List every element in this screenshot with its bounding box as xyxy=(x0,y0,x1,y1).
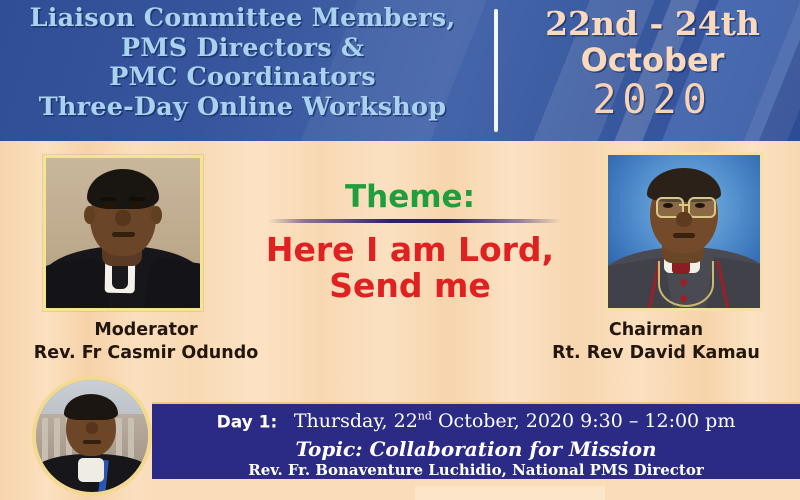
photo-mouth xyxy=(112,232,135,237)
photo-eye-left xyxy=(663,203,673,208)
speaker-circle-photo xyxy=(32,376,152,496)
moderator-photo xyxy=(43,155,203,311)
chairman-photo xyxy=(605,152,763,311)
theme-line-1: Here I am Lord, xyxy=(228,232,592,268)
chairman-caption: Chairman Rt. Rev David Kamau xyxy=(512,319,800,365)
photo-nose xyxy=(86,422,98,434)
photo-nose xyxy=(115,210,131,226)
schedule-bar: Day 1: Thursday, 22nd October, 2020 9:30… xyxy=(152,402,800,481)
photo-eyeglass-bridge xyxy=(679,204,689,206)
photo-brow-right xyxy=(129,197,145,201)
schedule-day-label: Day 1: xyxy=(217,412,278,432)
header-divider xyxy=(494,9,498,132)
event-title-line-4: Three-Day Online Workshop xyxy=(0,93,485,123)
event-title: Liaison Committee Members, PMS Directors… xyxy=(0,4,485,122)
photo-eye-right xyxy=(130,203,144,209)
theme-line-2: Send me xyxy=(228,268,592,304)
schedule-day-line: Day 1: Thursday, 22nd October, 2020 9:30… xyxy=(152,410,800,432)
bottom-strip-accent xyxy=(415,486,605,500)
photo-eye-left xyxy=(75,416,85,420)
event-title-line-2: PMS Directors & xyxy=(0,34,485,64)
schedule-date-ordinal: nd xyxy=(418,410,432,423)
photo-ear-right xyxy=(151,206,162,224)
moderator-name: Rev. Fr Casmir Odundo xyxy=(0,342,292,365)
photo-shoulder-left xyxy=(43,257,112,311)
photo-nose xyxy=(676,212,692,227)
poster-header: Liaison Committee Members, PMS Directors… xyxy=(0,0,800,141)
schedule-date-suffix: October, 2020 9:30 – 12:00 pm xyxy=(432,410,735,432)
event-title-line-3: PMC Coordinators xyxy=(0,63,485,93)
theme-label: Theme: xyxy=(232,180,588,214)
photo-cassock-button xyxy=(680,295,687,302)
moderator-role: Moderator xyxy=(0,319,292,342)
schedule-day-value: Thursday, 22nd October, 2020 9:30 – 12:0… xyxy=(282,410,736,432)
theme-underline xyxy=(268,219,562,223)
event-year: 2020 xyxy=(505,78,800,122)
photo-cassock-button xyxy=(680,279,687,286)
schedule-speaker: Rev. Fr. Bonaventure Luchidio, National … xyxy=(152,461,800,479)
chairman-name: Rt. Rev David Kamau xyxy=(512,342,800,365)
event-title-line-1: Liaison Committee Members, xyxy=(0,4,485,34)
schedule-topic: Topic: Collaboration for Mission xyxy=(152,437,800,461)
photo-clerical-collar xyxy=(78,458,104,482)
photo-shoulder-right xyxy=(142,257,203,311)
photo-brow-left xyxy=(100,197,116,201)
schedule-date-prefix: Thursday, 22 xyxy=(294,410,418,432)
event-date-range: 22nd - 24th xyxy=(505,5,800,42)
chairman-role: Chairman xyxy=(512,319,800,342)
moderator-caption: Moderator Rev. Fr Casmir Odundo xyxy=(0,319,292,365)
photo-mouth xyxy=(83,440,101,444)
event-month: October xyxy=(505,42,800,78)
photo-eye-right xyxy=(97,416,107,420)
photo-eye-left xyxy=(101,203,115,209)
photo-mouth xyxy=(673,233,695,238)
photo-eye-right xyxy=(695,203,705,208)
theme-statement: Here I am Lord, Send me xyxy=(228,232,592,304)
event-date-block: 22nd - 24th October 2020 xyxy=(505,5,800,122)
photo-ear-left xyxy=(84,206,95,224)
poster-root: Liaison Committee Members, PMS Directors… xyxy=(0,0,800,500)
